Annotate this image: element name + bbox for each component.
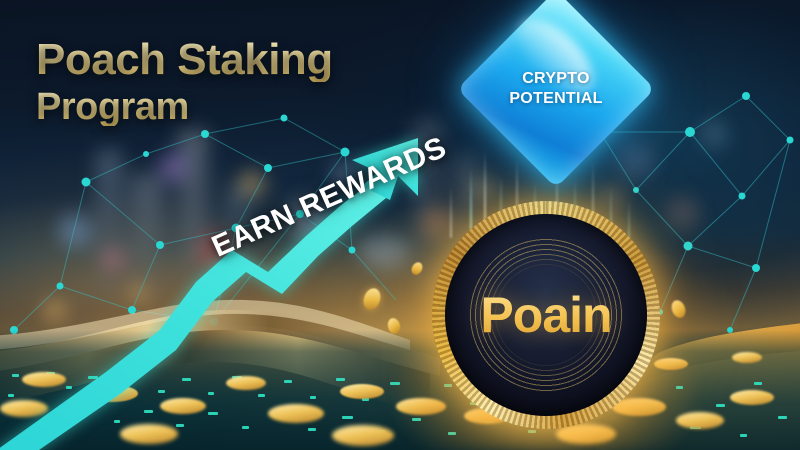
badge-line-1: CRYPTO — [522, 70, 590, 88]
badge-line-2: POTENTIAL — [509, 90, 602, 108]
badge-text: CRYPTO POTENTIAL — [486, 19, 626, 159]
banner-canvas: Poain CRYPTO POTENTIAL Poach Staking Pro… — [0, 0, 800, 450]
page-title: Poach Staking Program — [36, 38, 333, 126]
headline-line-1: Poach Staking — [36, 38, 333, 82]
crypto-potential-badge[interactable]: CRYPTO POTENTIAL — [486, 19, 626, 159]
headline-line-2: Program — [36, 88, 333, 126]
